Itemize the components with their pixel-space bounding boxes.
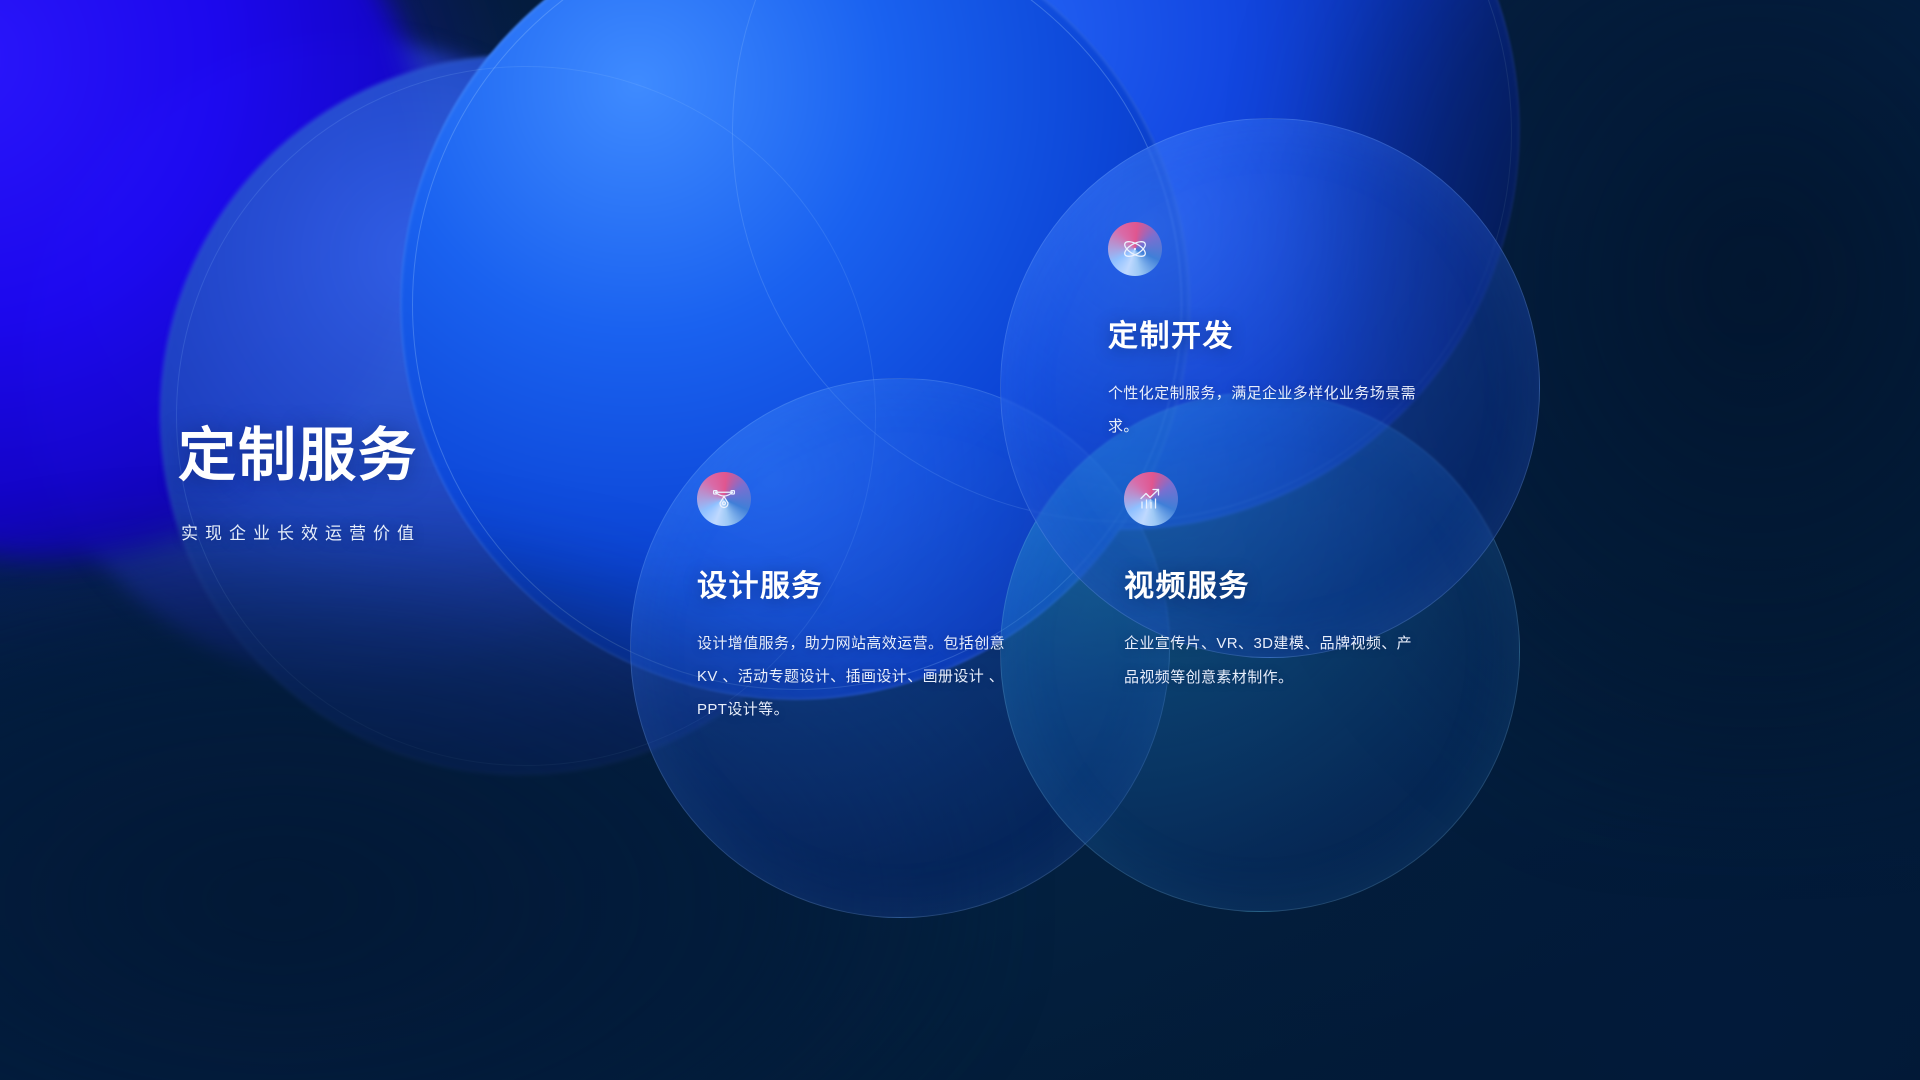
page-subtitle: 实现企业长效运营价值 xyxy=(178,519,421,544)
service-card-design-desc: 设计增值服务，助力网站高效运营。包括创意KV 、活动专题设计、插画设计、画册设计… xyxy=(697,627,1007,726)
service-card-design-content: 设计服务 设计增值服务，助力网站高效运营。包括创意KV 、活动专题设计、插画设计… xyxy=(697,472,1007,726)
page-title: 定制服务 xyxy=(178,427,421,485)
atom-orbit-icon xyxy=(1108,222,1162,276)
service-card-video-content: 视频服务 企业宣传片、VR、3D建模、品牌视频、产品视频等创意素材制作。 xyxy=(1124,472,1424,695)
service-card-video-title: 视频服务 xyxy=(1124,570,1424,603)
service-card-custom-title: 定制开发 xyxy=(1108,320,1418,353)
service-card-custom-content: 定制开发 个性化定制服务，满足企业多样化业务场景需求。 xyxy=(1108,222,1418,443)
service-card-video-desc: 企业宣传片、VR、3D建模、品牌视频、产品视频等创意素材制作。 xyxy=(1124,627,1424,695)
service-card-design-title: 设计服务 xyxy=(697,570,1007,603)
growth-chart-icon xyxy=(1124,472,1178,526)
hero-text-block: 定制服务 实现企业长效运营价值 xyxy=(178,427,421,544)
service-hero-banner: 定制服务 实现企业长效运营价值 定制开发 个性化定制服务，满足企业多样化业务场景… xyxy=(0,0,1920,1080)
service-card-custom-desc: 个性化定制服务，满足企业多样化业务场景需求。 xyxy=(1108,377,1418,443)
pen-nib-icon xyxy=(697,472,751,526)
